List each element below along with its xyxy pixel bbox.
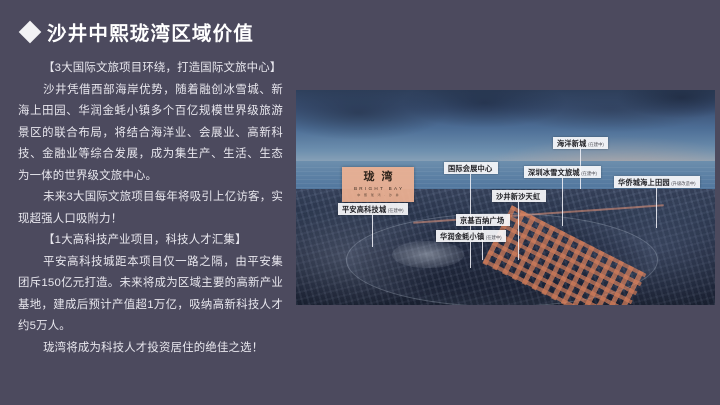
map-pin-huarun-jinhao[interactable]: 华润金蚝小镇(在建中)	[436, 230, 506, 268]
map-pin-huaqiaocheng[interactable]: 华侨城海上田园(升级改造中)	[614, 176, 700, 228]
label-jingji-baina: 京基百纳广场	[456, 214, 510, 226]
aerial-masterplan-render: 珑湾 BRIGHT BAY 中 熙 珑 湾 · 沙 井 海洋新城(在建中) 国际…	[296, 90, 715, 305]
page-title-text: 沙井中熙珑湾区域价值	[47, 17, 254, 46]
paragraph-5: 平安高科技城距本项目仅一路之隔，由平安集团斥150亿元打造。未来将成为区域主要的…	[18, 252, 283, 338]
pin-stem	[562, 178, 563, 226]
label-pingan-gaokeji: 平安高科技城(在建中)	[338, 203, 408, 215]
page-title: 沙井中熙珑湾区域价值	[22, 17, 254, 46]
label-haiyang-xincheng: 海洋新城(在建中)	[553, 137, 608, 149]
paragraph-3: 未来3大国际文旅项目每年将吸引上亿访客，实现超强人口吸附力！	[18, 187, 283, 230]
pin-stem	[470, 242, 471, 268]
map-pin-pingan-gaokeji[interactable]: 平安高科技城(在建中)	[338, 203, 408, 247]
paragraph-6: 珑湾将成为科技人才投资居住的绝佳之选！	[18, 338, 283, 360]
pin-stem	[518, 202, 519, 260]
project-brand-badge: 珑湾 BRIGHT BAY 中 熙 珑 湾 · 沙 井	[342, 167, 414, 202]
badge-name-cn: 珑湾	[357, 172, 400, 183]
label-bingxue-wenlvcheng: 深圳冰雪文旅城(在建中)	[524, 166, 601, 178]
paragraph-2: 沙井凭借西部海岸优势，随着融创冰雪城、新海上田园、华润金蚝小镇多个百亿规模世界级…	[18, 80, 283, 188]
paragraph-4: 【1大高科技产业项目，科技人才汇集】	[18, 230, 283, 252]
label-guoji-huizhan: 国际会展中心	[444, 162, 498, 174]
slide-root: 沙井中熙珑湾区域价值 【3大国际文旅项目环绕，打造国际文旅中心】 沙井凭借西部海…	[0, 0, 720, 405]
diamond-icon	[19, 20, 42, 43]
label-huaqiaocheng: 华侨城海上田园(升级改造中)	[614, 176, 700, 188]
label-huarun-jinhao: 华润金蚝小镇(在建中)	[436, 230, 506, 242]
badge-name-en: BRIGHT BAY	[352, 187, 405, 192]
body-copy: 【3大国际文旅项目环绕，打造国际文旅中心】 沙井凭借西部海岸优势，随着融创冰雪城…	[18, 58, 283, 359]
cloud-layer	[296, 90, 715, 155]
badge-name-sub: 中 熙 珑 湾 · 沙 井	[356, 194, 400, 197]
paragraph-1: 【3大国际文旅项目环绕，打造国际文旅中心】	[18, 58, 283, 80]
pin-stem	[656, 188, 657, 228]
label-shajing-xinsha: 沙井新沙天虹	[492, 190, 546, 202]
pin-stem	[372, 215, 373, 247]
